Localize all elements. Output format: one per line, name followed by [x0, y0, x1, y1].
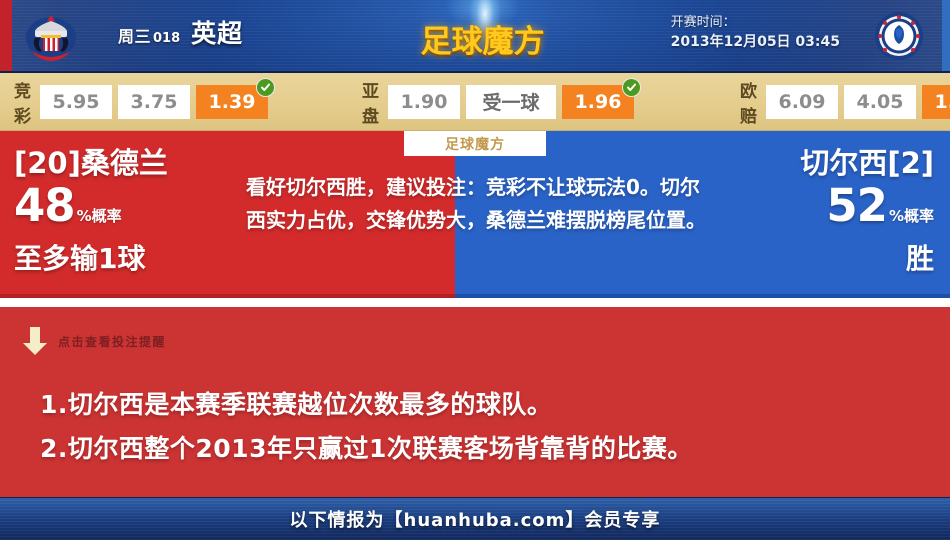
- header-right-stripe: [942, 0, 950, 71]
- odds-group-label: 欧赔: [740, 77, 758, 127]
- member-footer-text: 以下情报为【huanhuba.com】会员专享: [290, 506, 661, 532]
- odds-bar: 竞彩 5.95 3.75 1.39 亚盘 1.90 受一球 1.96 欧赔: [0, 73, 950, 131]
- check-badge-icon: [256, 78, 275, 97]
- league-name: 英超: [191, 14, 243, 50]
- member-footer-bar: 以下情报为【huanhuba.com】会员专享: [0, 497, 950, 540]
- odds-cell-home[interactable]: 6.09: [766, 85, 838, 119]
- home-team-name: [20]桑德兰: [14, 145, 168, 181]
- kickoff-label: 开赛时间：: [671, 13, 840, 32]
- sunderland-crest-icon: [22, 8, 80, 64]
- home-probability-unit: %概率: [77, 207, 122, 225]
- brand-logo-text: 足球魔方: [395, 16, 570, 61]
- panel-tab-label: 足球魔方: [445, 134, 505, 154]
- betting-advice-text: 看好切尔西胜，建议投注：竞彩不让球玩法0。切尔西实力占优，交锋优势大，桑德兰难摆…: [246, 171, 706, 237]
- brand-logo: 足球魔方: [395, 0, 570, 71]
- odds-group-label: 亚盘: [362, 77, 380, 127]
- away-probability: 52%概率: [800, 181, 934, 241]
- note-item: 2.切尔西整个2013年只赢过1次联赛客场背靠背的比赛。: [40, 429, 693, 465]
- away-team-name: 切尔西[2]: [800, 145, 934, 181]
- chelsea-crest-icon: [870, 8, 928, 64]
- check-badge-icon: [622, 78, 641, 97]
- away-probability-unit: %概率: [889, 207, 934, 225]
- odds-cell-away[interactable]: 1.39: [196, 85, 268, 119]
- home-team-block: [20]桑德兰 48%概率 至多输1球: [14, 145, 168, 277]
- odds-group-label: 竞彩: [14, 77, 32, 127]
- notes-panel: 点击查看投注提醒 1.切尔西是本赛季联赛越位次数最多的球队。 2.切尔西整个20…: [0, 307, 950, 497]
- odds-cell-value: 1.96: [575, 91, 622, 113]
- odds-cell-draw[interactable]: 4.05: [844, 85, 916, 119]
- away-team-block: 切尔西[2] 52%概率 胜: [800, 145, 934, 277]
- odds-group-jingcai: 竞彩 5.95 3.75 1.39: [14, 77, 274, 127]
- kickoff-block: 开赛时间： 2013年12月05日 03:45: [671, 13, 840, 52]
- match-header: 周三 018 英超 足球魔方 开赛时间： 2013年12月05日 03:45: [0, 0, 950, 73]
- odds-cell-draw[interactable]: 3.75: [118, 85, 190, 119]
- match-weekday: 周三: [118, 23, 151, 47]
- odds-cell-away[interactable]: 1.52: [922, 85, 950, 119]
- prediction-panel: [20]桑德兰 48%概率 至多输1球 切尔西[2] 52%概率 胜 足球魔方 …: [0, 131, 950, 298]
- home-verdict: 至多输1球: [14, 241, 168, 277]
- away-verdict: 胜: [800, 241, 934, 277]
- odds-cell-value: 1.39: [209, 91, 256, 113]
- home-probability: 48%概率: [14, 181, 168, 241]
- match-number: 018: [153, 31, 180, 46]
- odds-cell-handicap[interactable]: 受一球: [466, 85, 556, 119]
- odds-group-oupei: 欧赔 6.09 4.05 1.52: [740, 77, 950, 127]
- note-item: 1.切尔西是本赛季联赛越位次数最多的球队。: [40, 385, 552, 421]
- arrow-down-icon: [22, 325, 48, 357]
- odds-cell-value: 1.52: [935, 91, 950, 113]
- panel-tab: 足球魔方: [404, 131, 546, 156]
- header-left-stripe: [0, 0, 12, 71]
- odds-cell-away[interactable]: 1.96: [562, 85, 634, 119]
- away-probability-value: 52: [826, 179, 887, 232]
- odds-group-yapan: 亚盘 1.90 受一球 1.96: [362, 77, 640, 127]
- kickoff-time: 2013年12月05日 03:45: [671, 32, 840, 52]
- match-meta: 周三 018 英超: [118, 14, 243, 50]
- odds-cell-home[interactable]: 1.90: [388, 85, 460, 119]
- odds-cell-home[interactable]: 5.95: [40, 85, 112, 119]
- home-probability-value: 48: [14, 179, 75, 232]
- betting-reminder-link[interactable]: 点击查看投注提醒: [22, 325, 166, 357]
- betting-reminder-label: 点击查看投注提醒: [58, 333, 166, 350]
- football-prediction-card: 周三 018 英超 足球魔方 开赛时间： 2013年12月05日 03:45: [0, 0, 950, 559]
